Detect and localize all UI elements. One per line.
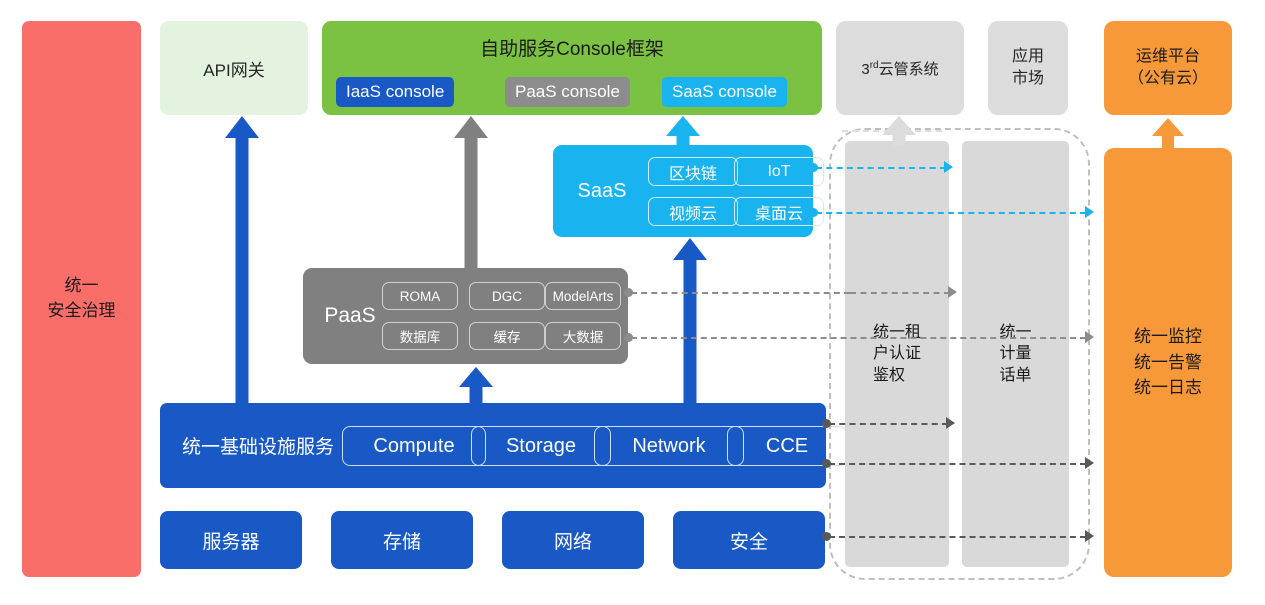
ops-platform-public-cloud-box: 运维平台（公有云）	[1104, 21, 1232, 115]
connector-line-paas-to-ops	[631, 337, 1086, 339]
unified-metering-billing-label: 统一计量话单	[999, 322, 1031, 387]
saas-console-pill[interactable]: SaaS console	[662, 77, 787, 107]
connector-line-paas-to-auth	[631, 292, 850, 294]
paas-service-database[interactable]: 数据库	[382, 322, 458, 350]
third-party-cloud-management-box: 3rd云管系统	[836, 21, 964, 115]
arrow-infra-to-saas	[673, 238, 707, 405]
paas-console-pill[interactable]: PaaS console	[505, 77, 630, 107]
resource-box-storage[interactable]: 存储	[331, 511, 473, 569]
unified-infrastructure-service-bar: 统一基础设施服务 Compute Storage Network CCE	[160, 403, 826, 488]
unified-tenant-auth-label: 统一租户认证鉴权	[873, 322, 921, 387]
infra-service-network[interactable]: Network	[594, 426, 744, 466]
arrow-paas-to-console	[454, 116, 488, 274]
saas-layer-label: SaaS	[567, 145, 637, 237]
iaas-console-pill[interactable]: IaaS console	[336, 77, 454, 107]
saas-layer-block: SaaS 区块链 IoT 视频云 桌面云	[553, 145, 813, 237]
connector-arrow-saas-to-ops	[1085, 206, 1094, 218]
resource-box-security[interactable]: 安全	[673, 511, 825, 569]
api-gateway-box: API网关	[160, 21, 308, 115]
ops-platform-label: 运维平台（公有云）	[1128, 46, 1208, 89]
connector-line-shared-top	[842, 130, 942, 132]
arrow-infra-to-api-gateway	[225, 116, 259, 406]
paas-service-roma[interactable]: ROMA	[382, 282, 458, 310]
unified-security-governance-label: 统一安全治理	[48, 274, 116, 323]
unified-monitoring-label: 统一监控统一告警统一日志	[1134, 324, 1202, 401]
arrow-infra-to-paas	[459, 367, 493, 405]
app-market-box: 应用市场	[988, 21, 1068, 115]
paas-service-dgc[interactable]: DGC	[469, 282, 545, 310]
connector-arrow-paas-to-ops	[1085, 331, 1094, 343]
infra-service-storage[interactable]: Storage	[471, 426, 611, 466]
resource-box-network[interactable]: 网络	[502, 511, 644, 569]
arrow-ops-panel-to-ops-platform	[1152, 118, 1184, 148]
resource-box-server[interactable]: 服务器	[160, 511, 302, 569]
connector-line-saas-to-metering	[816, 167, 946, 169]
app-market-label: 应用市场	[1012, 46, 1044, 89]
third-party-cloud-label: 3rd云管系统	[861, 58, 938, 79]
infra-service-compute[interactable]: Compute	[342, 426, 486, 466]
unified-infrastructure-label: 统一基础设施服务	[182, 403, 334, 488]
saas-service-video-cloud[interactable]: 视频云	[648, 197, 738, 226]
connector-line-infra-to-ops	[829, 463, 1086, 465]
arrow-saas-to-console	[666, 116, 700, 148]
unified-security-governance-panel: 统一安全治理	[22, 21, 141, 577]
unified-monitoring-panel: 统一监控统一告警统一日志	[1104, 148, 1232, 577]
paas-layer-label: PaaS	[311, 268, 389, 364]
connector-line-saas-to-ops	[816, 212, 1086, 214]
connector-line-resources-to-ops	[829, 536, 1086, 538]
paas-layer-block: PaaS ROMA DGC ModelArts 数据库 缓存 大数据	[303, 268, 628, 364]
api-gateway-label: API网关	[203, 56, 264, 81]
unified-tenant-auth-column: 统一租户认证鉴权	[845, 141, 949, 567]
connector-line-infra-to-metering	[829, 423, 948, 425]
self-service-console-framework: 自助服务Console框架 IaaS console PaaS console …	[322, 21, 822, 115]
paas-service-modelarts[interactable]: ModelArts	[545, 282, 621, 310]
connector-arrow-infra-to-ops	[1085, 457, 1094, 469]
connector-line-paas-to-auth-b	[850, 292, 950, 294]
paas-service-bigdata[interactable]: 大数据	[545, 322, 621, 350]
paas-service-cache[interactable]: 缓存	[469, 322, 545, 350]
connector-arrow-resources-to-ops	[1085, 530, 1094, 542]
connector-arrow-infra-to-metering	[946, 417, 955, 429]
saas-service-blockchain[interactable]: 区块链	[648, 157, 738, 186]
console-framework-title: 自助服务Console框架	[322, 34, 822, 61]
connector-arrow-saas-to-metering	[944, 161, 953, 173]
unified-metering-billing-column: 统一计量话单	[962, 141, 1069, 567]
architecture-diagram: 统一安全治理 API网关 自助服务Console框架 IaaS console …	[0, 0, 1265, 605]
